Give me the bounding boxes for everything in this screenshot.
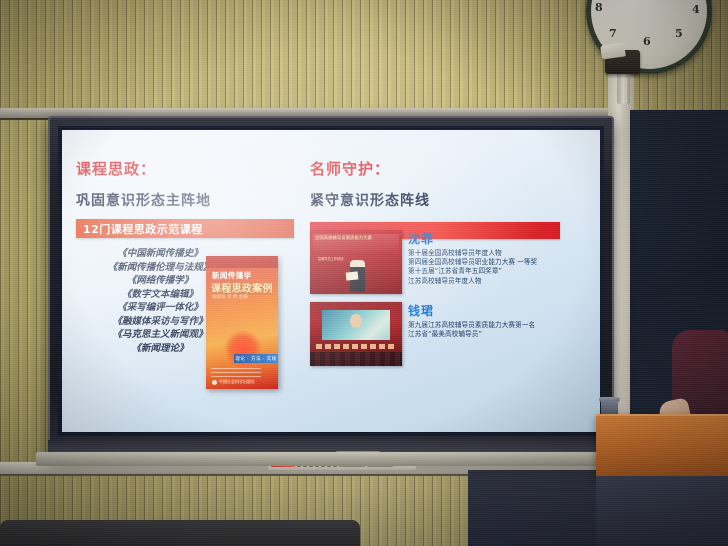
wooden-lectern [596, 414, 728, 478]
person-achievement: 第九届江苏高校辅导员素质能力大赛第一名 [408, 321, 584, 330]
clock-number: 6 [643, 35, 651, 48]
right-subheading: 紧守意识形态阵线 [310, 190, 590, 210]
person-name: 钱珺 [408, 302, 584, 319]
book-tagline: 理论 · 方法 · 实践 [234, 354, 278, 363]
person-achievement: 第十五届“江苏省青年五四奖章” [408, 267, 584, 276]
display-stand-rail [36, 452, 626, 466]
book-top-band [206, 256, 278, 268]
photo-portrait [350, 314, 362, 328]
demo-courses-banner-label: 12门课程思政示范课程 [83, 221, 203, 237]
book-title: 课程思政案例 [211, 280, 273, 295]
presentation-slide[interactable]: 课程思政： 巩固意识形态主阵地 12门课程思政示范课程 《中国新闻传播史》 《新… [62, 130, 600, 432]
person-achievement: 第十届全国高校辅导员年度人物 [408, 249, 584, 258]
person-achievement: 江苏省“最美高校辅导员” [408, 330, 584, 339]
left-heading: 课程思政： [76, 158, 324, 179]
award-ceremony-photo: 全国高校辅导员素质能力大赛 暨辅导员工作现场 [310, 230, 402, 294]
book-tagline-label: 理论 · 方法 · 实践 [235, 356, 277, 362]
book-blurb-lines [211, 368, 261, 377]
person-info: 沈菲 第十届全国高校辅导员年度人物 第四届全国高校辅导员职业能力大赛 一等奖 第… [408, 230, 584, 294]
course-list: 《中国新闻传播史》 《新闻传播伦理与法规》 《网络传播学》 《数字文本编辑》 《… [76, 247, 324, 355]
clock-number: 4 [692, 3, 700, 16]
person-achievement: 江苏高校辅导员年度人物 [408, 277, 584, 286]
book-publisher-label: 中国社会科学出版社 [219, 379, 255, 385]
person-row: 钱珺 第九届江苏高校辅导员素质能力大赛第一名 江苏省“最美高校辅导员” [310, 302, 584, 366]
book-cover-image: 新闻传播学 课程思政案例 张晓锋 李 昕 主编 理论 · 方法 · 实践 中国社… [206, 256, 278, 389]
photo-audience [310, 352, 402, 366]
photo-banner-caption: 全国高校辅导员素质能力大赛 [315, 235, 372, 241]
publisher-logo-icon [212, 380, 217, 385]
camera-mount [617, 70, 630, 104]
right-heading: 名师守护： [310, 158, 590, 179]
lectern-base [596, 476, 728, 546]
photo-banner-subcaption: 暨辅导员工作现场 [318, 257, 344, 261]
person-info: 钱珺 第九届江苏高校辅导员素质能力大赛第一名 江苏省“最美高校辅导员” [408, 302, 584, 366]
book-publisher: 中国社会科学出版社 [212, 379, 255, 385]
book-authors: 张晓锋 李 昕 主编 [212, 294, 248, 300]
person-name: 沈菲 [408, 230, 584, 247]
demo-courses-banner: 12门课程思政示范课程 [76, 219, 294, 238]
clock-number: 7 [609, 27, 617, 40]
lecture-hall-scene: 8 7 6 5 4 3 课程思政： 巩固意识形态主阵地 12门课程思政示范课程 … [0, 0, 728, 546]
conference-hall-photo [310, 302, 402, 366]
floor-object [0, 520, 360, 546]
camera-cable [625, 78, 627, 102]
left-subheading: 巩固意识形态主阵地 [76, 190, 324, 210]
clock-number: 5 [675, 27, 683, 40]
photo-caption-strip [316, 344, 396, 349]
person-row: 全国高校辅导员素质能力大赛 暨辅导员工作现场 沈菲 第十届全国高校辅导员年度人物… [310, 230, 584, 294]
slide-right-column: 名师守护： 紧守意识形态阵线 全国高校辅导员素质能力大赛 暨辅导员工作现场 沈菲… [310, 158, 590, 239]
clock-number: 8 [595, 1, 603, 14]
slide-left-column: 课程思政： 巩固意识形态主阵地 12门课程思政示范课程 《中国新闻传播史》 《新… [76, 158, 324, 371]
photo-certificate [346, 271, 359, 280]
